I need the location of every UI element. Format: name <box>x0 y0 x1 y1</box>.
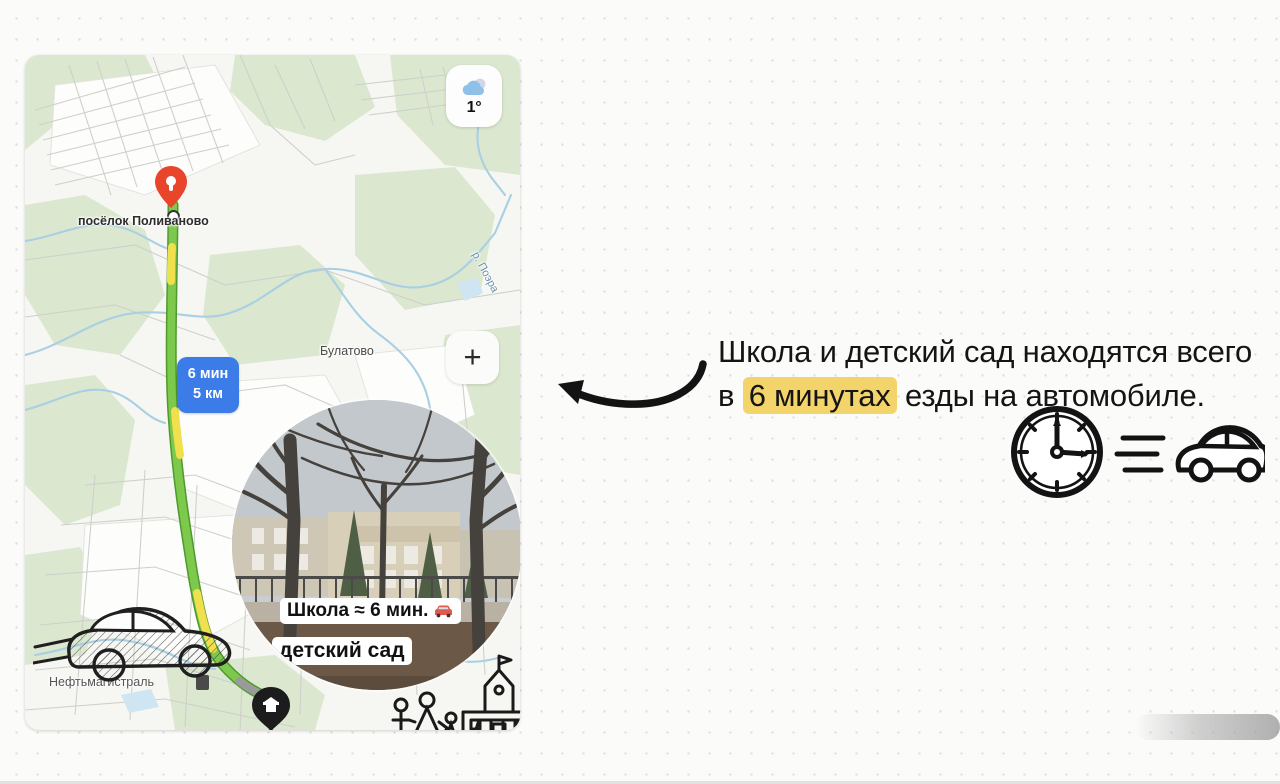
photo-caption-school: Школа ≈ 6 мин. <box>280 598 461 624</box>
school-photo-circle[interactable]: Школа ≈ 6 мин. детский сад <box>232 400 520 690</box>
curved-arrow-icon <box>548 358 713 418</box>
car-doodle-icon <box>1178 428 1265 480</box>
plus-icon: + <box>463 341 481 372</box>
hatched-car-doodle-icon <box>33 585 243 685</box>
zoom-in-button[interactable]: + <box>446 331 499 384</box>
speed-lines-icon <box>1117 438 1163 470</box>
cloud-icon <box>459 76 489 98</box>
route-distance: 5 км <box>193 385 223 405</box>
poster-canvas: посёлок Поливаново Булатово р. Поэра Неф… <box>0 0 1280 784</box>
family-icon <box>393 693 457 730</box>
origin-pin-icon[interactable] <box>153 165 189 209</box>
map-label-village: Булатово <box>320 344 374 358</box>
clock-and-car-doodle <box>1005 400 1265 500</box>
weather-temperature: 1° <box>467 99 482 117</box>
watermark-artifact <box>1135 714 1280 740</box>
map-label-origin: посёлок Поливаново <box>78 214 209 228</box>
amenities-doodle-group <box>385 650 520 730</box>
route-duration-badge[interactable]: 6 мин 5 км <box>177 357 239 413</box>
car-icon <box>433 604 454 618</box>
destination-pin-icon[interactable] <box>250 685 292 730</box>
clock-icon <box>1014 409 1100 495</box>
copy-highlight: 6 минутах <box>743 377 897 414</box>
map-card[interactable]: посёлок Поливаново Булатово р. Поэра Неф… <box>25 55 520 730</box>
weather-widget[interactable]: 1° <box>446 65 502 127</box>
route-duration: 6 мин <box>188 365 229 385</box>
